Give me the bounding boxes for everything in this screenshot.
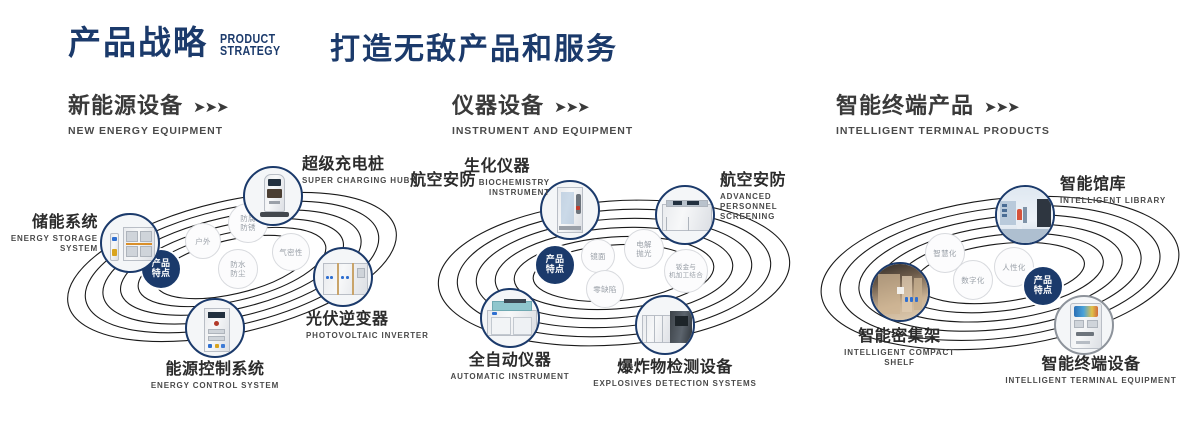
poster-canvas: 产品战略 PRODUCT STRATEGY 打造无敌产品和服务 新能源设备 ➤➤… bbox=[0, 0, 1200, 422]
product-label-biochemistry: 生化仪器 BIOCHEMISTRY INSTRUMENT bbox=[464, 157, 550, 198]
product-circle-compact-shelf[interactable] bbox=[870, 262, 930, 322]
product-label-en: AUTOMATIC INSTRUMENT bbox=[435, 372, 585, 382]
product-label-en: INTELLIGENT LIBRARY bbox=[1060, 196, 1166, 206]
feature-bubble-label: 气密性 bbox=[279, 248, 302, 257]
section-title-new-energy: 新能源设备 ➤➤➤ NEW ENERGY EQUIPMENT bbox=[68, 96, 228, 137]
feature-bubble-label: 数字化 bbox=[961, 276, 984, 285]
product-label-en-line2: SHELF bbox=[822, 358, 977, 368]
page-title: 产品战略 bbox=[68, 26, 208, 59]
energy-control-artwork bbox=[187, 300, 243, 356]
orbit-cluster-intelligent: 智慧化 数字化 人性化 产品 特点 bbox=[812, 155, 1192, 385]
product-circle-explosives-detection[interactable] bbox=[635, 295, 695, 355]
chevron-right-icon: ➤➤➤ bbox=[554, 100, 589, 115]
product-label-explosives-detection: 爆炸物检测设备 EXPLOSIVES DETECTION SYSTEMS bbox=[580, 358, 770, 389]
energy-storage-artwork bbox=[102, 215, 158, 271]
product-label-cn: 能源控制系统 bbox=[90, 360, 340, 378]
product-label-en: BIOCHEMISTRY INSTRUMENT bbox=[464, 178, 550, 198]
product-label-aviation-security-left: 航空安防 bbox=[386, 171, 476, 189]
core-bubble-label-line2: 特点 bbox=[1034, 286, 1053, 296]
section-title-en: INSTRUMENT AND EQUIPMENT bbox=[452, 125, 633, 137]
chevron-right-icon: ➤➤➤ bbox=[984, 100, 1019, 115]
feature-bubble-zero-defect: 零缺陷 bbox=[586, 270, 624, 308]
product-circle-energy-storage[interactable] bbox=[100, 213, 160, 273]
section-title-en: INTELLIGENT TERMINAL PRODUCTS bbox=[836, 125, 1050, 137]
feature-bubble-airtightness: 气密性 bbox=[272, 233, 310, 271]
product-label-cn: 生化仪器 bbox=[464, 157, 550, 175]
product-label-pv-inverter: 光伏逆变器 PHOTOVOLTAIC INVERTER bbox=[306, 310, 429, 341]
section-title-cn: 新能源设备 ➤➤➤ bbox=[68, 96, 228, 118]
biochemistry-artwork bbox=[542, 182, 598, 238]
page-slogan: 打造无敌产品和服务 bbox=[330, 32, 618, 68]
section-title-en: NEW ENERGY EQUIPMENT bbox=[68, 125, 228, 137]
explosives-detection-artwork bbox=[637, 297, 693, 353]
automatic-instrument-artwork bbox=[482, 290, 538, 346]
product-label-terminal-equipment: 智能终端设备 INTELLIGENT TERMINAL EQUIPMENT bbox=[992, 355, 1190, 386]
core-bubble-product-features: 产品 特点 bbox=[536, 246, 574, 284]
page-title-english-line2: STRATEGY bbox=[220, 45, 281, 57]
intelligent-library-artwork bbox=[997, 187, 1053, 243]
feature-bubble-label: 电解 抛光 bbox=[636, 240, 652, 258]
product-label-energy-storage: 储能系统 ENERGY STORAGE SYSTEM bbox=[10, 213, 98, 254]
feature-bubble-label-line2: 防尘 bbox=[230, 269, 246, 278]
page-title-english: PRODUCT STRATEGY bbox=[220, 33, 281, 57]
product-circle-charging-hub[interactable] bbox=[243, 166, 303, 226]
product-label-cn: 超级充电桩 bbox=[302, 155, 410, 173]
feature-bubble-label: 户外 bbox=[195, 237, 211, 246]
feature-bubble-label-line1: 防水 bbox=[230, 260, 246, 269]
charging-hub-artwork bbox=[245, 168, 301, 224]
feature-bubble-label: 智慧化 bbox=[933, 249, 956, 258]
product-label-en-line1: INTELLIGENT COMPACT bbox=[822, 348, 977, 358]
section-title-cn-text: 新能源设备 bbox=[68, 96, 183, 118]
product-label-en: ENERGY STORAGE SYSTEM bbox=[10, 234, 98, 254]
product-label-cn: 爆炸物检测设备 bbox=[580, 358, 770, 376]
core-bubble-label-line1: 产品 bbox=[1034, 276, 1053, 286]
product-circle-automatic-instrument[interactable] bbox=[480, 288, 540, 348]
feature-bubble-label: 镜面 bbox=[590, 252, 606, 261]
core-bubble-label: 产品 特点 bbox=[546, 255, 565, 276]
section-title-cn-text: 智能终端产品 bbox=[836, 96, 974, 118]
product-circle-energy-control[interactable] bbox=[185, 298, 245, 358]
pv-inverter-artwork bbox=[315, 249, 371, 305]
feature-bubble-label: 人性化 bbox=[1002, 263, 1025, 272]
chevron-right-icon: ➤➤➤ bbox=[193, 100, 228, 115]
feature-bubble-waterproof: 防水 防尘 bbox=[218, 249, 258, 289]
feature-bubble-label: 防水 防尘 bbox=[230, 260, 246, 278]
terminal-equipment-artwork bbox=[1056, 297, 1112, 353]
orbit-cluster-new-energy: 户外 防腐 防锈 气密性 防水 防尘 产品 特点 bbox=[60, 155, 420, 385]
core-bubble-label-line1: 产品 bbox=[546, 255, 565, 265]
orbit-cluster-instrument: 产品 特点 镜面 电解 抛光 钣金与 机加工结合 零缺陷 bbox=[428, 155, 798, 385]
product-label-intelligent-library: 智能馆库 INTELLIGENT LIBRARY bbox=[1060, 175, 1166, 206]
section-title-cn: 仪器设备 ➤➤➤ bbox=[452, 96, 633, 118]
product-label-automatic-instrument: 全自动仪器 AUTOMATIC INSTRUMENT bbox=[435, 351, 585, 382]
product-label-cn: 智能终端设备 bbox=[992, 355, 1190, 373]
screening-artwork bbox=[657, 187, 713, 243]
feature-bubble-digitization: 数字化 bbox=[953, 260, 993, 300]
product-label-en: INTELLIGENT TERMINAL EQUIPMENT bbox=[992, 376, 1190, 386]
product-label-cn: 储能系统 bbox=[10, 213, 98, 231]
section-title-cn-text: 仪器设备 bbox=[452, 96, 544, 118]
feature-bubble-label-line1: 钣金与 bbox=[676, 263, 696, 271]
core-bubble-label: 产品 特点 bbox=[1034, 276, 1053, 297]
section-title-intelligent: 智能终端产品 ➤➤➤ INTELLIGENT TERMINAL PRODUCTS bbox=[836, 96, 1050, 137]
core-bubble-label-line2: 特点 bbox=[546, 265, 565, 275]
section-title-cn: 智能终端产品 ➤➤➤ bbox=[836, 96, 1050, 118]
product-label-cn: 航空安防 bbox=[386, 171, 476, 189]
product-circle-screening[interactable] bbox=[655, 185, 715, 245]
feature-bubble-mirror-finish: 镜面 bbox=[581, 239, 615, 273]
section-title-instrument: 仪器设备 ➤➤➤ INSTRUMENT AND EQUIPMENT bbox=[452, 96, 633, 137]
product-label-en: ENERGY CONTROL SYSTEM bbox=[90, 381, 340, 391]
product-label-en: EXPLOSIVES DETECTION SYSTEMS bbox=[580, 379, 770, 389]
product-label-energy-control: 能源控制系统 ENERGY CONTROL SYSTEM bbox=[90, 360, 340, 391]
product-label-cn: 智能密集架 bbox=[822, 327, 977, 345]
feature-bubble-sheetmetal-machining: 钣金与 机加工结合 bbox=[664, 249, 708, 293]
poster-header: 产品战略 PRODUCT STRATEGY bbox=[68, 26, 294, 59]
product-label-cn: 光伏逆变器 bbox=[306, 310, 429, 328]
feature-bubble-label-line2: 抛光 bbox=[636, 249, 652, 258]
feature-bubble-outdoor: 户外 bbox=[185, 223, 221, 259]
feature-bubble-label: 钣金与 机加工结合 bbox=[669, 263, 703, 279]
product-circle-terminal-equipment[interactable] bbox=[1054, 295, 1114, 355]
product-label-cn: 全自动仪器 bbox=[435, 351, 585, 369]
product-label-en: PHOTOVOLTAIC INVERTER bbox=[306, 331, 429, 341]
feature-bubble-label-line2: 机加工结合 bbox=[669, 271, 703, 279]
product-label-compact-shelf: 智能密集架 INTELLIGENT COMPACT SHELF bbox=[822, 327, 977, 368]
feature-bubble-label-line2: 防锈 bbox=[240, 223, 256, 232]
product-circle-pv-inverter[interactable] bbox=[313, 247, 373, 307]
compact-shelf-artwork bbox=[872, 264, 928, 320]
feature-bubble-label-line1: 电解 bbox=[636, 240, 652, 249]
feature-bubble-label: 零缺陷 bbox=[593, 285, 616, 294]
product-label-cn: 智能馆库 bbox=[1060, 175, 1166, 193]
product-circle-intelligent-library[interactable] bbox=[995, 185, 1055, 245]
